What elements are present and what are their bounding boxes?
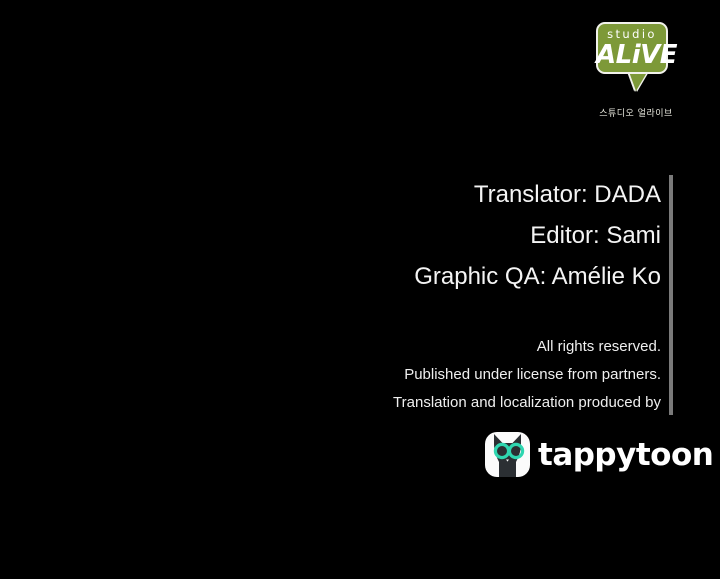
credits-block: Translator: DADA Editor: Sami Graphic QA… [241,174,661,297]
credits-page: studio ALiVE 스튜디오 얼라이브 Translator: DADA … [0,0,720,579]
credits-divider-bar [669,175,673,415]
legal-line-license: Published under license from partners. [201,361,661,389]
studio-alive-top-text: studio [596,27,668,41]
studio-alive-main-text: ALiVE [596,40,668,70]
credit-line-editor: Editor: Sami [241,215,661,256]
tappytoon-wordmark: tappytoon [538,437,713,473]
legal-block: All rights reserved. Published under lic… [201,333,661,417]
studio-alive-logo: studio ALiVE 스튜디오 얼라이브 [592,22,680,114]
tappytoon-cat-icon [485,432,530,477]
speech-bubble-icon: studio ALiVE [592,22,680,84]
credit-line-graphic-qa: Graphic QA: Amélie Ko [241,256,661,297]
tappytoon-logo: tappytoon [485,432,675,480]
legal-line-production: Translation and localization produced by [201,389,661,417]
legal-line-rights: All rights reserved. [201,333,661,361]
studio-alive-korean-text: 스튜디오 얼라이브 [592,106,680,119]
credit-line-translator: Translator: DADA [241,174,661,215]
